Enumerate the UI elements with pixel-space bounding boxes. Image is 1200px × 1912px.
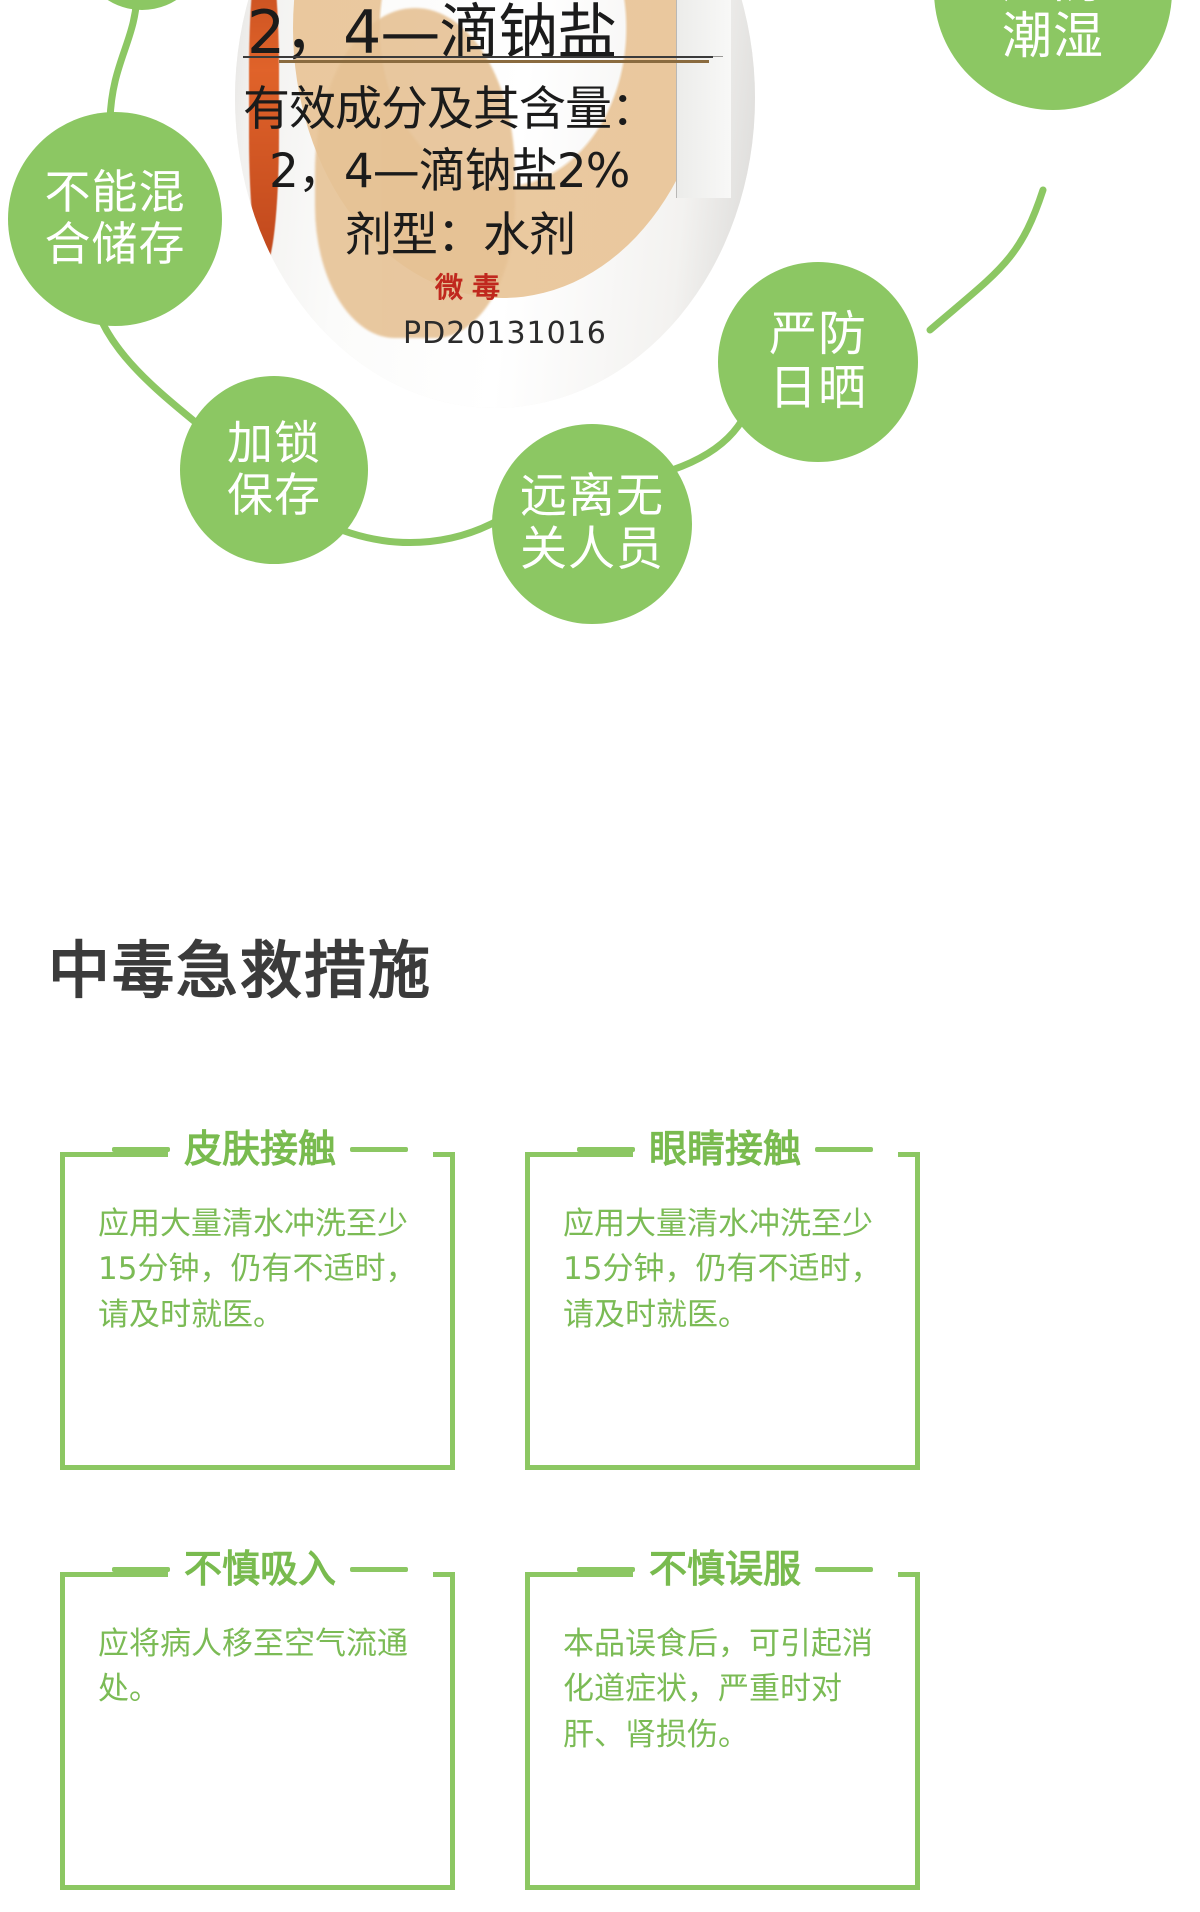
label-active-ingredient-value: 2，4—滴钠盐2%: [269, 132, 629, 201]
first-aid-card-inhalation: 不慎吸入 应将病人移至空气流通处。: [60, 1550, 455, 1890]
card-body: 本品误食后，可引起消化道症状，严重时对肝、肾损伤。: [563, 1622, 894, 1758]
card-header: 皮肤接触: [112, 1130, 408, 1168]
card-header: 眼睛接触: [577, 1130, 873, 1168]
dash-left-icon: [577, 1147, 635, 1152]
dash-right-icon: [815, 1567, 873, 1572]
dash-left-icon: [577, 1567, 635, 1572]
product-label-photo: 说明书 2，4—滴钠盐 有效成分及其含量： 2，4—滴钠盐2% 剂型：水剂 微毒…: [235, 0, 755, 408]
first-aid-card-skin-contact: 皮肤接触 应用大量清水冲洗至少15分钟，仍有不适时，请及时就医。: [60, 1130, 455, 1470]
storage-precautions-infographic: 说明书 2，4—滴钠盐 有效成分及其含量： 2，4—滴钠盐2% 剂型：水剂 微毒…: [0, 0, 1200, 700]
bubble-line: 保存: [227, 470, 321, 522]
bubble-prevent-sun: 严防 日晒: [718, 262, 918, 462]
card-title: 不慎误服: [649, 1550, 801, 1588]
first-aid-card-eye-contact: 眼睛接触 应用大量清水冲洗至少15分钟，仍有不适时，请及时就医。: [525, 1130, 920, 1470]
dash-left-icon: [112, 1147, 170, 1152]
bubble-no-mixed-storage: 不能混 合储存: [8, 112, 222, 326]
card-title: 皮肤接触: [184, 1130, 336, 1168]
page-title: 中毒急救措施: [48, 920, 432, 1010]
dash-right-icon: [815, 1147, 873, 1152]
bubble-line: 不能混: [45, 167, 186, 219]
card-frame: [60, 1572, 455, 1890]
card-header: 不慎误服: [577, 1550, 873, 1588]
first-aid-card-ingestion: 不慎误服 本品误食后，可引起消化道症状，严重时对肝、肾损伤。: [525, 1550, 920, 1890]
card-body: 应将病人移至空气流通处。: [98, 1622, 429, 1713]
label-active-ingredient-title: 有效成分及其含量：: [243, 70, 657, 139]
card-header: 不慎吸入: [112, 1550, 408, 1588]
card-body: 应用大量清水冲洗至少15分钟，仍有不适时，请及时就医。: [98, 1202, 429, 1338]
dash-right-icon: [350, 1567, 408, 1572]
dash-right-icon: [350, 1147, 408, 1152]
card-body: 应用大量清水冲洗至少15分钟，仍有不适时，请及时就医。: [563, 1202, 894, 1338]
bubble-line: 加锁: [227, 418, 321, 470]
bubble-line: 严防: [769, 308, 867, 362]
bubble-lock-storage: 加锁 保存: [180, 376, 368, 564]
label-registration-number: PD20131016: [403, 316, 607, 351]
bubble-line: 关人员: [520, 524, 664, 577]
card-title: 不慎吸入: [184, 1550, 336, 1588]
bubble-line: 合储存: [45, 219, 186, 271]
card-title: 眼睛接触: [649, 1130, 801, 1168]
bubble-line: 潮湿: [1002, 8, 1104, 64]
label-formulation: 剂型：水剂: [345, 196, 575, 265]
dash-left-icon: [112, 1567, 170, 1572]
bubble-keep-away-unrelated: 远离无 关人员: [492, 424, 692, 624]
bubble-line: 远离无: [520, 471, 664, 524]
label-toxicity-grade: 微毒: [435, 266, 509, 306]
bubble-line: 日晒: [769, 362, 867, 416]
